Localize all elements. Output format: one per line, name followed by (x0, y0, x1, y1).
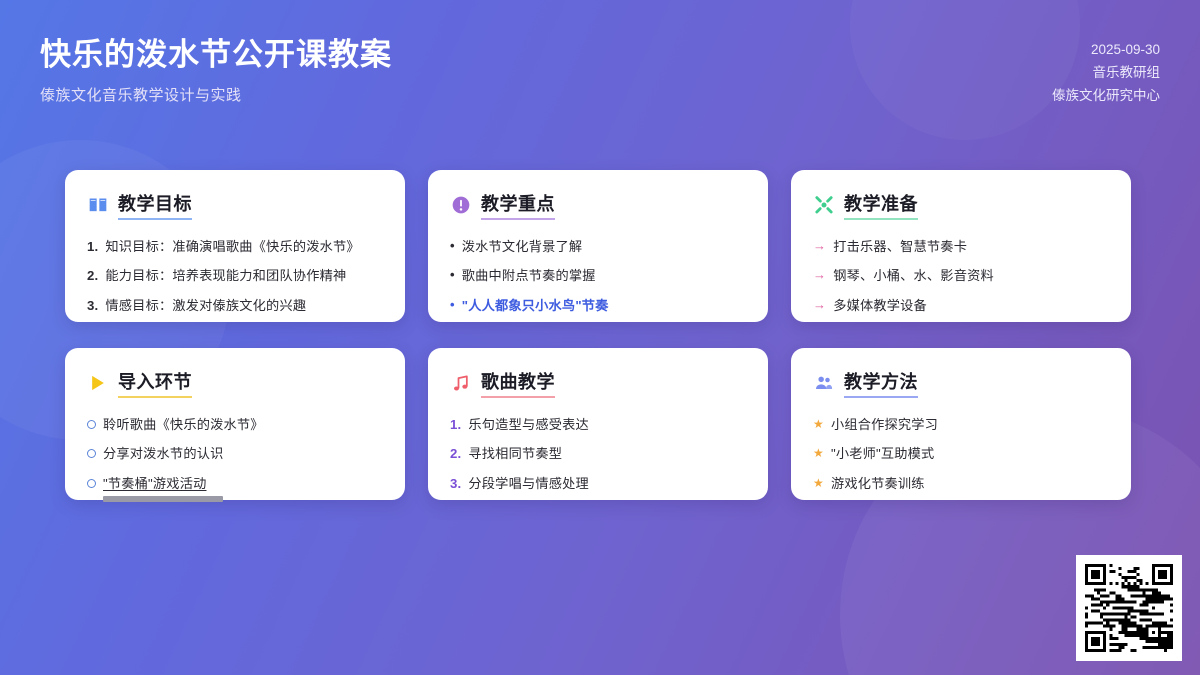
list-item-text-wrap: "节奏桶"游戏活动 (103, 474, 383, 502)
list-item-text-wrap: 多媒体教学设备 (833, 296, 1109, 316)
arrow-bullet-icon: → (813, 237, 826, 256)
list-item-text: 情感目标：激发对傣族文化的兴趣 (105, 298, 306, 313)
card-teaching-preparation: 教学准备→打击乐器、智慧节奏卡→钢琴、小桶、水、影音资料→多媒体教学设备 (791, 170, 1131, 322)
list-item-text: 钢琴、小桶、水、影音资料 (833, 268, 994, 283)
list-item[interactable]: ★小组合作探究学习 (813, 415, 1109, 435)
list-item-text: 知识目标：准确演唱歌曲《快乐的泼水节》 (105, 239, 359, 254)
card-teaching-methods: 教学方法★小组合作探究学习★"小老师"互助模式★游戏化节奏训练 (791, 348, 1131, 500)
card-header: 导入环节 (87, 368, 383, 398)
card-list: 1.乐句造型与感受表达2.寻找相同节奏型3.分段学唱与情感处理 (450, 415, 746, 494)
card-title: 导入环节 (118, 368, 192, 398)
list-item-text: "小老师"互助模式 (831, 446, 934, 461)
card-header: 教学方法 (813, 368, 1109, 398)
meta-center: 傣族文化研究中心 (1052, 84, 1160, 107)
arrow-bullet-icon: → (813, 266, 826, 285)
list-item-text: 寻找相同节奏型 (468, 446, 562, 461)
list-item[interactable]: →打击乐器、智慧节奏卡 (813, 237, 1109, 257)
list-item[interactable]: •歌曲中附点节奏的掌握 (450, 266, 746, 286)
ring-bullet-icon (87, 420, 96, 429)
list-item[interactable]: 3.情感目标：激发对傣族文化的兴趣 (87, 296, 383, 316)
list-item[interactable]: •泼水节文化背景了解 (450, 237, 746, 257)
list-item[interactable]: •"人人都象只小水鸟"节奏 (450, 296, 746, 316)
card-header: 教学准备 (813, 190, 1109, 220)
card-title: 歌曲教学 (481, 368, 555, 398)
card-title: 教学方法 (844, 368, 918, 398)
ring-bullet-icon (87, 479, 96, 488)
tools-icon (813, 194, 835, 216)
list-item-text: 歌曲中附点节奏的掌握 (462, 268, 596, 283)
page-title: 快乐的泼水节公开课教案 (40, 36, 392, 75)
card-header: 教学目标 (87, 190, 383, 220)
list-item-text: 打击乐器、智慧节奏卡 (833, 239, 967, 254)
list-item[interactable]: ★游戏化节奏训练 (813, 474, 1109, 494)
list-item-text-wrap: 小组合作探究学习 (831, 415, 1109, 435)
list-item-marker: 3. (87, 296, 98, 316)
music-note-icon (450, 372, 472, 394)
card-teaching-focus: 教学重点•泼水节文化背景了解•歌曲中附点节奏的掌握•"人人都象只小水鸟"节奏 (428, 170, 768, 322)
list-item-text: 分享对泼水节的认识 (103, 446, 224, 461)
card-title: 教学准备 (844, 190, 918, 220)
card-list: 1.知识目标：准确演唱歌曲《快乐的泼水节》2.能力目标：培养表现能力和团队协作精… (87, 237, 383, 316)
list-item-text-wrap: "小老师"互助模式 (831, 444, 1109, 464)
list-item-text-wrap: 情感目标：激发对傣族文化的兴趣 (105, 296, 383, 316)
star-bullet-icon: ★ (813, 415, 824, 434)
list-item[interactable]: 1.乐句造型与感受表达 (450, 415, 746, 435)
list-item-text: 泼水节文化背景了解 (462, 239, 583, 254)
list-item-marker: • (450, 266, 455, 285)
exclamation-circle-icon (450, 194, 472, 216)
list-item[interactable]: 聆听歌曲《快乐的泼水节》 (87, 415, 383, 435)
header-meta: 2025-09-30 音乐教研组 傣族文化研究中心 (1052, 38, 1160, 108)
card-list: →打击乐器、智慧节奏卡→钢琴、小桶、水、影音资料→多媒体教学设备 (813, 237, 1109, 316)
people-icon (813, 372, 835, 394)
list-item-text-wrap: 聆听歌曲《快乐的泼水节》 (103, 415, 383, 435)
list-item-marker: 2. (87, 266, 98, 286)
qr-code-image (1085, 564, 1173, 652)
arrow-bullet-icon: → (813, 296, 826, 315)
card-teaching-objectives: 教学目标1.知识目标：准确演唱歌曲《快乐的泼水节》2.能力目标：培养表现能力和团… (65, 170, 405, 322)
list-item-text-wrap: 打击乐器、智慧节奏卡 (833, 237, 1109, 257)
header-text-block: 快乐的泼水节公开课教案 傣族文化音乐教学设计与实践 (40, 36, 392, 105)
list-item-text-wrap: 能力目标：培养表现能力和团队协作精神 (105, 266, 383, 286)
card-header: 歌曲教学 (450, 368, 746, 398)
list-item[interactable]: 2.寻找相同节奏型 (450, 444, 746, 464)
card-list: ★小组合作探究学习★"小老师"互助模式★游戏化节奏训练 (813, 415, 1109, 494)
star-bullet-icon: ★ (813, 474, 824, 493)
list-item-marker: 2. (450, 444, 461, 464)
list-item-text-wrap: 寻找相同节奏型 (468, 444, 746, 464)
list-item-text-wrap: 游戏化节奏训练 (831, 474, 1109, 494)
list-item-marker: 1. (450, 415, 461, 435)
list-item-text-wrap: 分享对泼水节的认识 (103, 444, 383, 464)
list-item-text: 多媒体教学设备 (833, 298, 927, 313)
card-list: 聆听歌曲《快乐的泼水节》分享对泼水节的认识"节奏桶"游戏活动 (87, 415, 383, 502)
list-item[interactable]: →多媒体教学设备 (813, 296, 1109, 316)
slide-header: 快乐的泼水节公开课教案 傣族文化音乐教学设计与实践 2025-09-30 音乐教… (0, 0, 1200, 140)
book-icon (87, 194, 109, 216)
slide-root: 快乐的泼水节公开课教案 傣族文化音乐教学设计与实践 2025-09-30 音乐教… (0, 0, 1200, 675)
list-item-marker: • (450, 296, 455, 315)
list-item-text-wrap: 泼水节文化背景了解 (462, 237, 746, 257)
list-item-marker: 3. (450, 474, 461, 494)
list-item-text: "人人都象只小水鸟"节奏 (462, 298, 609, 313)
card-grid: 教学目标1.知识目标：准确演唱歌曲《快乐的泼水节》2.能力目标：培养表现能力和团… (65, 170, 1140, 500)
list-item[interactable]: 3.分段学唱与情感处理 (450, 474, 746, 494)
list-item-text-wrap: 歌曲中附点节奏的掌握 (462, 266, 746, 286)
list-item[interactable]: →钢琴、小桶、水、影音资料 (813, 266, 1109, 286)
list-item-text: 乐句造型与感受表达 (468, 417, 589, 432)
card-title: 教学重点 (481, 190, 555, 220)
list-item-text: 小组合作探究学习 (831, 417, 938, 432)
card-song-teaching: 歌曲教学1.乐句造型与感受表达2.寻找相同节奏型3.分段学唱与情感处理 (428, 348, 768, 500)
list-item[interactable]: 1.知识目标：准确演唱歌曲《快乐的泼水节》 (87, 237, 383, 257)
card-list: •泼水节文化背景了解•歌曲中附点节奏的掌握•"人人都象只小水鸟"节奏 (450, 237, 746, 316)
meta-department: 音乐教研组 (1052, 61, 1160, 84)
list-item-text-wrap: 乐句造型与感受表达 (468, 415, 746, 435)
ring-bullet-icon (87, 449, 96, 458)
card-header: 教学重点 (450, 190, 746, 220)
list-item-text-wrap: 分段学唱与情感处理 (468, 474, 746, 494)
card-lead-in-session: 导入环节聆听歌曲《快乐的泼水节》分享对泼水节的认识"节奏桶"游戏活动 (65, 348, 405, 500)
list-item-text-wrap: 钢琴、小桶、水、影音资料 (833, 266, 1109, 286)
list-item-marker: 1. (87, 237, 98, 257)
list-item-text: 游戏化节奏训练 (831, 476, 925, 491)
list-item-text: 分段学唱与情感处理 (468, 476, 589, 491)
list-item-text-wrap: 知识目标：准确演唱歌曲《快乐的泼水节》 (105, 237, 383, 257)
list-item[interactable]: "节奏桶"游戏活动 (87, 474, 383, 502)
page-subtitle: 傣族文化音乐教学设计与实践 (40, 84, 392, 105)
star-bullet-icon: ★ (813, 444, 824, 463)
highlight-bar (103, 496, 223, 502)
list-item-text: "节奏桶"游戏活动 (103, 476, 206, 491)
list-item-text: 能力目标：培养表现能力和团队协作精神 (105, 268, 346, 283)
list-item[interactable]: 分享对泼水节的认识 (87, 444, 383, 464)
list-item-text-wrap: "人人都象只小水鸟"节奏 (462, 296, 746, 316)
meta-date: 2025-09-30 (1052, 38, 1160, 61)
list-item[interactable]: 2.能力目标：培养表现能力和团队协作精神 (87, 266, 383, 286)
list-item[interactable]: ★"小老师"互助模式 (813, 444, 1109, 464)
card-title: 教学目标 (118, 190, 192, 220)
list-item-marker: • (450, 237, 455, 256)
list-item-text: 聆听歌曲《快乐的泼水节》 (103, 417, 264, 432)
play-triangle-icon (87, 372, 109, 394)
qr-code[interactable] (1076, 555, 1182, 661)
